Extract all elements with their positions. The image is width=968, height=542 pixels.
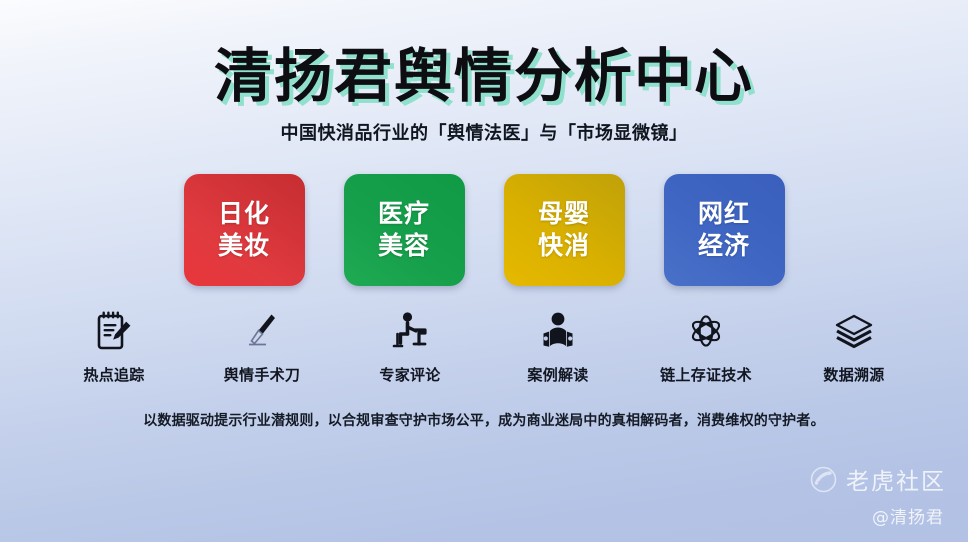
person-reading-book-icon bbox=[537, 308, 579, 354]
feature-label: 链上存证技术 bbox=[660, 364, 752, 385]
layers-stack-icon bbox=[832, 308, 876, 354]
tagline: 以数据驱动提示行业潜规则，以合规审查守护市场公平，成为商业迷局中的真相解码者，消… bbox=[0, 410, 968, 430]
category-card-line1: 医疗 bbox=[378, 198, 430, 230]
category-card-influencer-economy[interactable]: 网红 经济 bbox=[664, 174, 785, 286]
category-card-line2: 美容 bbox=[378, 230, 430, 262]
feature-item-opinion-scalpel[interactable]: 舆情手术刀 bbox=[207, 308, 317, 385]
poster-canvas: 清扬君舆情分析中心 中国快消品行业的「舆情法医」与「市场显微镜」 日化 美妆 医… bbox=[0, 0, 968, 542]
category-cards-row: 日化 美妆 医疗 美容 母婴 快消 网红 经济 bbox=[0, 174, 968, 286]
feature-item-data-traceability[interactable]: 数据溯源 bbox=[799, 308, 909, 385]
category-card-line1: 网红 bbox=[698, 198, 750, 230]
feature-label: 数据溯源 bbox=[823, 364, 884, 385]
feature-label: 案例解读 bbox=[527, 364, 588, 385]
watermark: 老虎社区 @清扬君 bbox=[810, 462, 946, 528]
category-card-line2: 快消 bbox=[538, 230, 590, 262]
feature-label: 专家评论 bbox=[379, 364, 440, 385]
atom-icon bbox=[685, 308, 727, 354]
feature-item-expert-commentary[interactable]: 专家评论 bbox=[355, 308, 465, 385]
feature-label: 舆情手术刀 bbox=[224, 364, 301, 385]
feature-item-onchain-evidence[interactable]: 链上存证技术 bbox=[651, 308, 761, 385]
category-card-daily-chemical[interactable]: 日化 美妆 bbox=[184, 174, 305, 286]
category-card-line1: 日化 bbox=[218, 198, 270, 230]
category-card-line1: 母婴 bbox=[538, 198, 590, 230]
category-card-line2: 美妆 bbox=[218, 230, 270, 262]
page-title: 清扬君舆情分析中心 bbox=[0, 46, 968, 107]
watermark-handle: @清扬君 bbox=[810, 503, 944, 528]
category-card-medical-beauty[interactable]: 医疗 美容 bbox=[344, 174, 465, 286]
tiger-community-logo-icon bbox=[810, 466, 837, 493]
feature-label: 热点追踪 bbox=[83, 364, 144, 385]
watermark-brand-row: 老虎社区 bbox=[810, 462, 946, 496]
person-seated-desk-icon bbox=[389, 308, 431, 354]
title-block: 清扬君舆情分析中心 中国快消品行业的「舆情法医」与「市场显微镜」 bbox=[0, 46, 968, 145]
scalpel-icon bbox=[242, 308, 282, 354]
category-card-line2: 经济 bbox=[698, 230, 750, 262]
feature-item-case-interpretation[interactable]: 案例解读 bbox=[503, 308, 613, 385]
category-card-maternal-fmcg[interactable]: 母婴 快消 bbox=[504, 174, 625, 286]
watermark-brand: 老虎社区 bbox=[846, 462, 946, 496]
features-row: 热点追踪 舆情手术刀 bbox=[0, 308, 968, 385]
notepad-pencil-icon bbox=[94, 308, 134, 354]
page-subtitle: 中国快消品行业的「舆情法医」与「市场显微镜」 bbox=[0, 119, 968, 145]
feature-item-hot-tracking[interactable]: 热点追踪 bbox=[59, 308, 169, 385]
